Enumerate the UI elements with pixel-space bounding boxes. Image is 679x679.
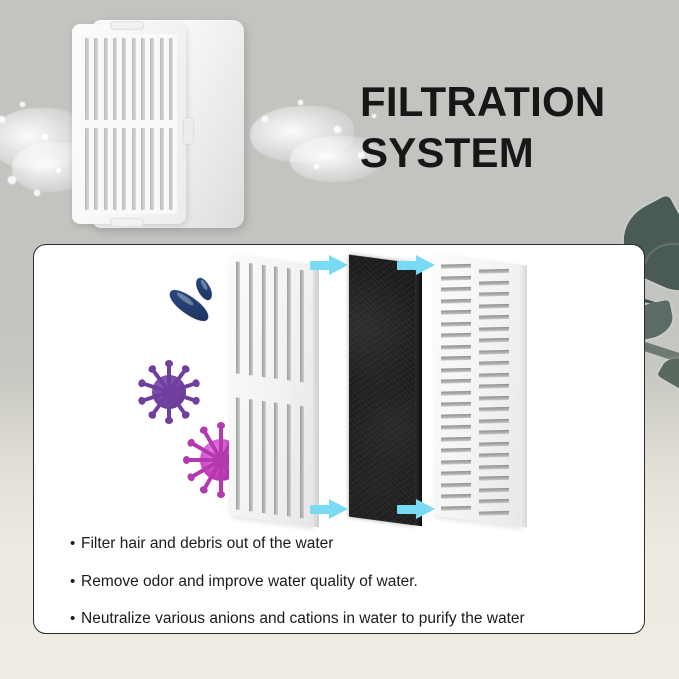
louver-slot	[479, 511, 509, 516]
louver-slot	[441, 298, 471, 303]
pre-filter-slat	[236, 261, 240, 374]
louver-slot	[441, 460, 471, 465]
pre-filter-slat	[300, 270, 304, 383]
pre-filter-slat	[262, 401, 266, 514]
louver-slot	[479, 465, 509, 470]
pre-filter-edge	[313, 265, 319, 528]
louver-slot	[441, 402, 471, 407]
louver-slot	[441, 425, 471, 430]
louver-slot	[479, 269, 509, 274]
louver-slot	[479, 442, 509, 447]
page-title: FILTRATION SYSTEM	[360, 76, 660, 178]
plant-leaf	[657, 350, 679, 401]
feature-bullet-list: • Filter hair and debris out of the wate…	[70, 535, 620, 634]
cartridge-slat	[85, 38, 89, 120]
virus-purple-icon	[140, 363, 198, 421]
cartridge-slat	[132, 128, 136, 210]
cartridge-slat	[113, 38, 117, 120]
bullet-text: Remove odor and improve water quality of…	[81, 573, 620, 592]
flow-arrow-top-left	[310, 255, 348, 275]
pre-filter-slat	[249, 263, 253, 376]
bullet-marker: •	[70, 535, 81, 553]
louver-column-right	[479, 267, 509, 517]
cartridge-side-clip	[184, 118, 193, 144]
bullet-marker: •	[70, 573, 81, 591]
infographic-canvas: FILTRATION SYSTEM	[0, 0, 679, 679]
carbon-panel	[349, 255, 415, 526]
louver-slot	[441, 310, 471, 315]
louver-slot	[479, 419, 509, 424]
louver-slot	[479, 488, 509, 493]
louver-slot	[479, 338, 509, 343]
cartridge-tab-top	[110, 21, 144, 30]
louver-slot	[441, 275, 471, 280]
cartridge-slat	[150, 128, 154, 210]
louver-slot	[441, 437, 471, 442]
list-item: • Remove odor and improve water quality …	[70, 573, 620, 592]
flow-arrow-bottom-left	[310, 499, 348, 519]
louver-slot	[441, 264, 471, 269]
pre-filter-slat	[287, 268, 291, 381]
louver-slot	[441, 494, 471, 499]
pre-filter-slat	[236, 397, 240, 510]
louver-slot	[479, 326, 509, 331]
pre-filter-frame	[229, 253, 313, 526]
cartridge-grille-upper	[85, 38, 173, 120]
filter-layer-pre-filter	[229, 253, 313, 526]
cartridge-slat	[122, 38, 126, 120]
louver-slot	[441, 391, 471, 396]
info-panel: • Filter hair and debris out of the wate…	[33, 244, 645, 634]
cartridge-slat	[150, 38, 154, 120]
cartridge-slat	[94, 38, 98, 120]
pre-filter-slat	[262, 265, 266, 378]
louver-slot	[441, 321, 471, 326]
louver-slot	[479, 476, 509, 481]
louver-slot	[479, 407, 509, 412]
louver-slot	[441, 367, 471, 372]
louver-slot	[479, 315, 509, 320]
louver-slot	[441, 379, 471, 384]
louver-slot	[479, 430, 509, 435]
flow-arrow-top-right	[397, 255, 435, 275]
cartridge-slat	[85, 128, 89, 210]
louver-edge	[520, 265, 527, 528]
cartridge-slat	[160, 128, 164, 210]
title-line-1: FILTRATION	[360, 76, 660, 127]
bullet-text: Filter hair and debris out of the water	[81, 535, 620, 554]
louver-slot	[441, 356, 471, 361]
pre-filter-slat	[287, 404, 291, 517]
cartridge-front-face	[72, 24, 186, 224]
filter-layer-activated-carbon	[349, 255, 415, 526]
louver-slot	[479, 280, 509, 285]
cartridge-slat	[169, 128, 173, 210]
louver-slot	[479, 384, 509, 389]
cartridge-slat	[160, 38, 164, 120]
pre-filter-slat	[300, 406, 304, 519]
louver-slot	[479, 292, 509, 297]
cartridge-slat	[169, 38, 173, 120]
cartridge-slat	[94, 128, 98, 210]
louver-slot	[441, 483, 471, 488]
louver-slot	[441, 506, 471, 511]
louver-slot	[479, 349, 509, 354]
louver-frame	[434, 253, 520, 526]
bullet-text: Neutralize various anions and cations in…	[81, 610, 620, 629]
louver-slot	[441, 471, 471, 476]
hero-filter-cartridge	[72, 20, 244, 228]
louver-column-left	[441, 262, 471, 512]
cartridge-grille	[81, 34, 177, 214]
cartridge-slat	[141, 38, 145, 120]
louver-slot	[479, 303, 509, 308]
flow-arrow-bottom-right	[397, 499, 435, 519]
cartridge-tab-bottom	[110, 218, 144, 227]
louver-slot	[441, 333, 471, 338]
cartridge-slat	[132, 38, 136, 120]
louver-slot	[441, 287, 471, 292]
louver-slot	[441, 448, 471, 453]
louver-slot	[479, 361, 509, 366]
louver-slot	[441, 414, 471, 419]
louver-slot	[479, 372, 509, 377]
carbon-edge	[415, 263, 422, 526]
cartridge-slat	[122, 128, 126, 210]
pre-filter-upper-slats	[236, 261, 304, 382]
bullet-marker: •	[70, 610, 81, 628]
pre-filter-slat	[249, 399, 253, 512]
cartridge-slat	[104, 128, 108, 210]
title-line-2: SYSTEM	[360, 127, 660, 178]
cartridge-slat	[113, 128, 117, 210]
louver-slot	[479, 396, 509, 401]
louver-slot	[479, 499, 509, 504]
louver-slot	[479, 453, 509, 458]
plant-leaf	[640, 234, 679, 300]
pre-filter-slat	[274, 266, 278, 379]
louver-slot	[441, 344, 471, 349]
pre-filter-slat	[274, 402, 278, 515]
list-item: • Neutralize various anions and cations …	[70, 610, 620, 629]
cartridge-grille-lower	[85, 128, 173, 210]
cartridge-slat	[104, 38, 108, 120]
pre-filter-lower-slats	[236, 397, 304, 518]
filter-layer-ion-exchange	[434, 253, 520, 526]
bacterium-small-icon	[193, 276, 215, 303]
list-item: • Filter hair and debris out of the wate…	[70, 535, 620, 554]
cartridge-slat	[141, 128, 145, 210]
